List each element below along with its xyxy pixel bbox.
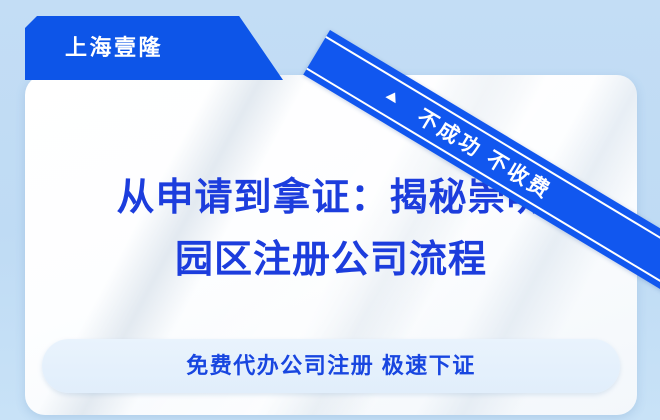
promo-banner: 从申请到拿证：揭秘崇明 园区注册公司流程 免费代办公司注册 极速下证 上海壹隆 … [0,0,660,420]
brand-tab-label: 上海壹隆 [25,37,163,59]
service-highlight-text: 免费代办公司注册 极速下证 [186,355,476,377]
service-highlight-bar[interactable]: 免费代办公司注册 极速下证 [42,339,620,393]
title-line-2: 园区注册公司流程 [25,229,637,291]
triangle-up-icon [385,89,400,103]
content-card: 从申请到拿证：揭秘崇明 园区注册公司流程 免费代办公司注册 极速下证 [25,75,637,415]
brand-tab-content: 上海壹隆 [25,16,283,80]
